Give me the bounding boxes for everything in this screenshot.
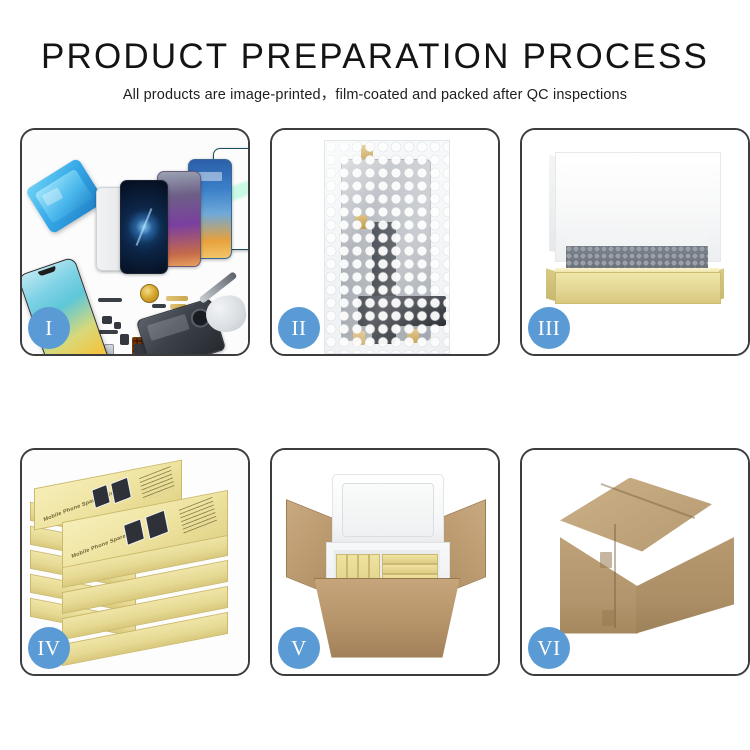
process-step-1[interactable]: I bbox=[20, 128, 250, 356]
page-header: PRODUCT PREPARATION PROCESS All products… bbox=[0, 0, 750, 103]
bubble-wrap-bag-icon bbox=[324, 140, 450, 354]
yellow-box-front-icon bbox=[555, 272, 721, 304]
step-badge-5: V bbox=[278, 627, 320, 669]
process-step-6[interactable]: VI bbox=[520, 448, 750, 676]
process-step-2[interactable]: II bbox=[270, 128, 500, 356]
phone-screen-dark-icon bbox=[120, 180, 168, 274]
carton-body-icon bbox=[314, 578, 460, 658]
foam-lid-icon bbox=[332, 474, 444, 548]
process-step-4[interactable]: Mobile Phone Spare Parts Mobile Phone Sp… bbox=[20, 448, 250, 676]
page-subtitle: All products are image-printed，film-coat… bbox=[0, 88, 750, 103]
sealed-carton-icon bbox=[538, 478, 734, 646]
page-title: PRODUCT PREPARATION PROCESS bbox=[0, 39, 750, 74]
process-step-5[interactable]: V bbox=[270, 448, 500, 676]
step-badge-1: I bbox=[28, 307, 70, 349]
step-badge-2: II bbox=[278, 307, 320, 349]
white-foam-sheet-icon bbox=[566, 172, 708, 246]
screwdriver-tool-icon bbox=[188, 280, 242, 334]
step-badge-3: III bbox=[528, 307, 570, 349]
step-badge-4: IV bbox=[28, 627, 70, 669]
step-badge-6: VI bbox=[528, 627, 570, 669]
process-step-grid: I II bbox=[10, 128, 740, 676]
process-step-3[interactable]: III bbox=[520, 128, 750, 356]
